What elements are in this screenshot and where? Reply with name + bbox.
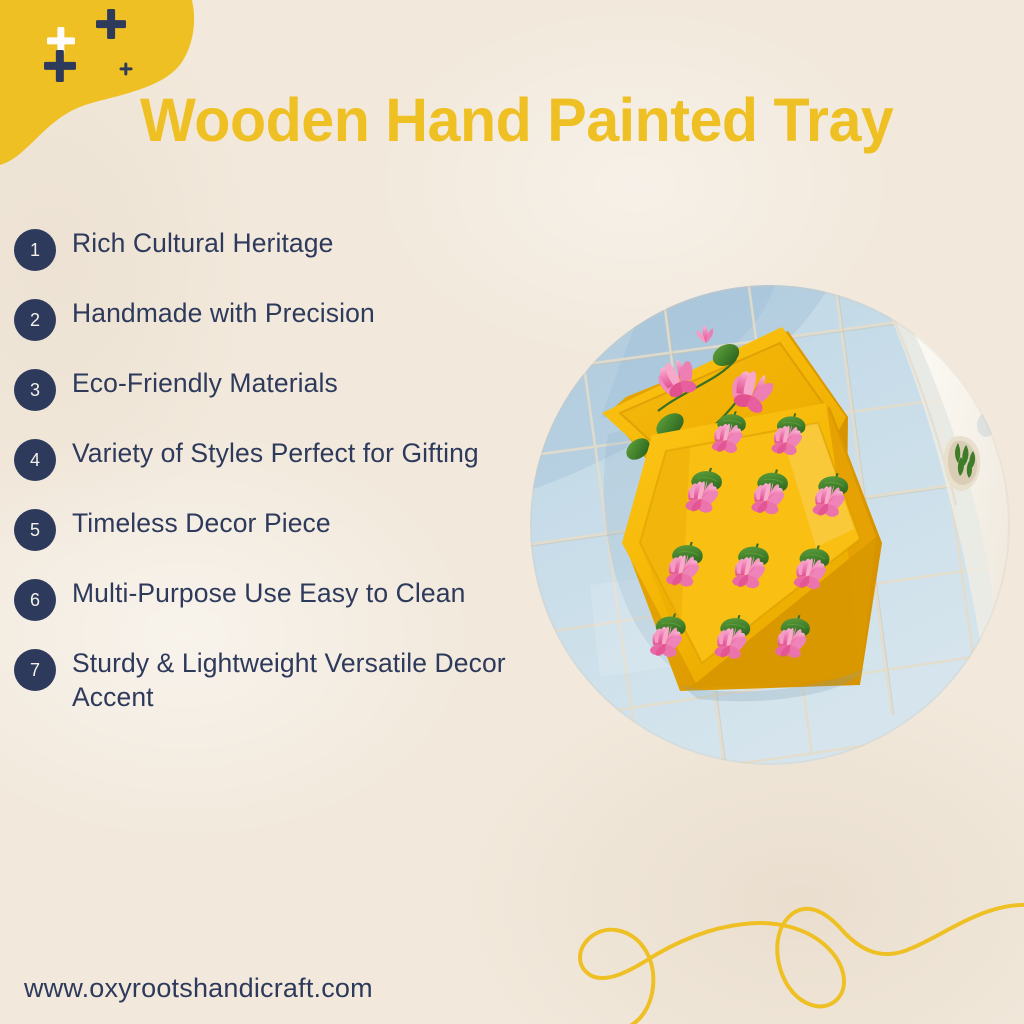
plus-mark-navy-medium (44, 50, 76, 82)
list-item: 6 Multi-Purpose Use Easy to Clean (14, 576, 559, 621)
feature-label: Rich Cultural Heritage (72, 226, 333, 260)
feature-number-badge: 1 (14, 229, 56, 271)
feature-label: Sturdy & Lightweight Versatile Decor Acc… (72, 646, 559, 715)
feature-list: 1 Rich Cultural Heritage 2 Handmade with… (14, 226, 559, 740)
plus-mark-navy-small (119, 62, 132, 75)
wooden-hand-painted-tray-photo (530, 285, 1010, 765)
feature-number-badge: 3 (14, 369, 56, 411)
feature-number-badge: 2 (14, 299, 56, 341)
feature-number-badge: 4 (14, 439, 56, 481)
feature-number-badge: 6 (14, 579, 56, 621)
list-item: 7 Sturdy & Lightweight Versatile Decor A… (14, 646, 559, 715)
feature-number-badge: 7 (14, 649, 56, 691)
list-item: 4 Variety of Styles Perfect for Gifting (14, 436, 559, 481)
feature-label: Eco-Friendly Materials (72, 366, 338, 400)
website-url: www.oxyrootshandicraft.com (24, 973, 373, 1004)
list-item: 1 Rich Cultural Heritage (14, 226, 559, 271)
feature-label: Variety of Styles Perfect for Gifting (72, 436, 479, 470)
page-title: Wooden Hand Painted Tray (140, 88, 916, 152)
list-item: 2 Handmade with Precision (14, 296, 559, 341)
feature-label: Handmade with Precision (72, 296, 375, 330)
feature-number-badge: 5 (14, 509, 56, 551)
feature-label: Timeless Decor Piece (72, 506, 331, 540)
list-item: 3 Eco-Friendly Materials (14, 366, 559, 411)
list-item: 5 Timeless Decor Piece (14, 506, 559, 551)
feature-label: Multi-Purpose Use Easy to Clean (72, 576, 465, 610)
yellow-flowing-line-decoration (520, 878, 1024, 1024)
poster-canvas: Wooden Hand Painted Tray 1 Rich Cultural… (0, 0, 1024, 1024)
plus-mark-navy-large (96, 9, 126, 39)
